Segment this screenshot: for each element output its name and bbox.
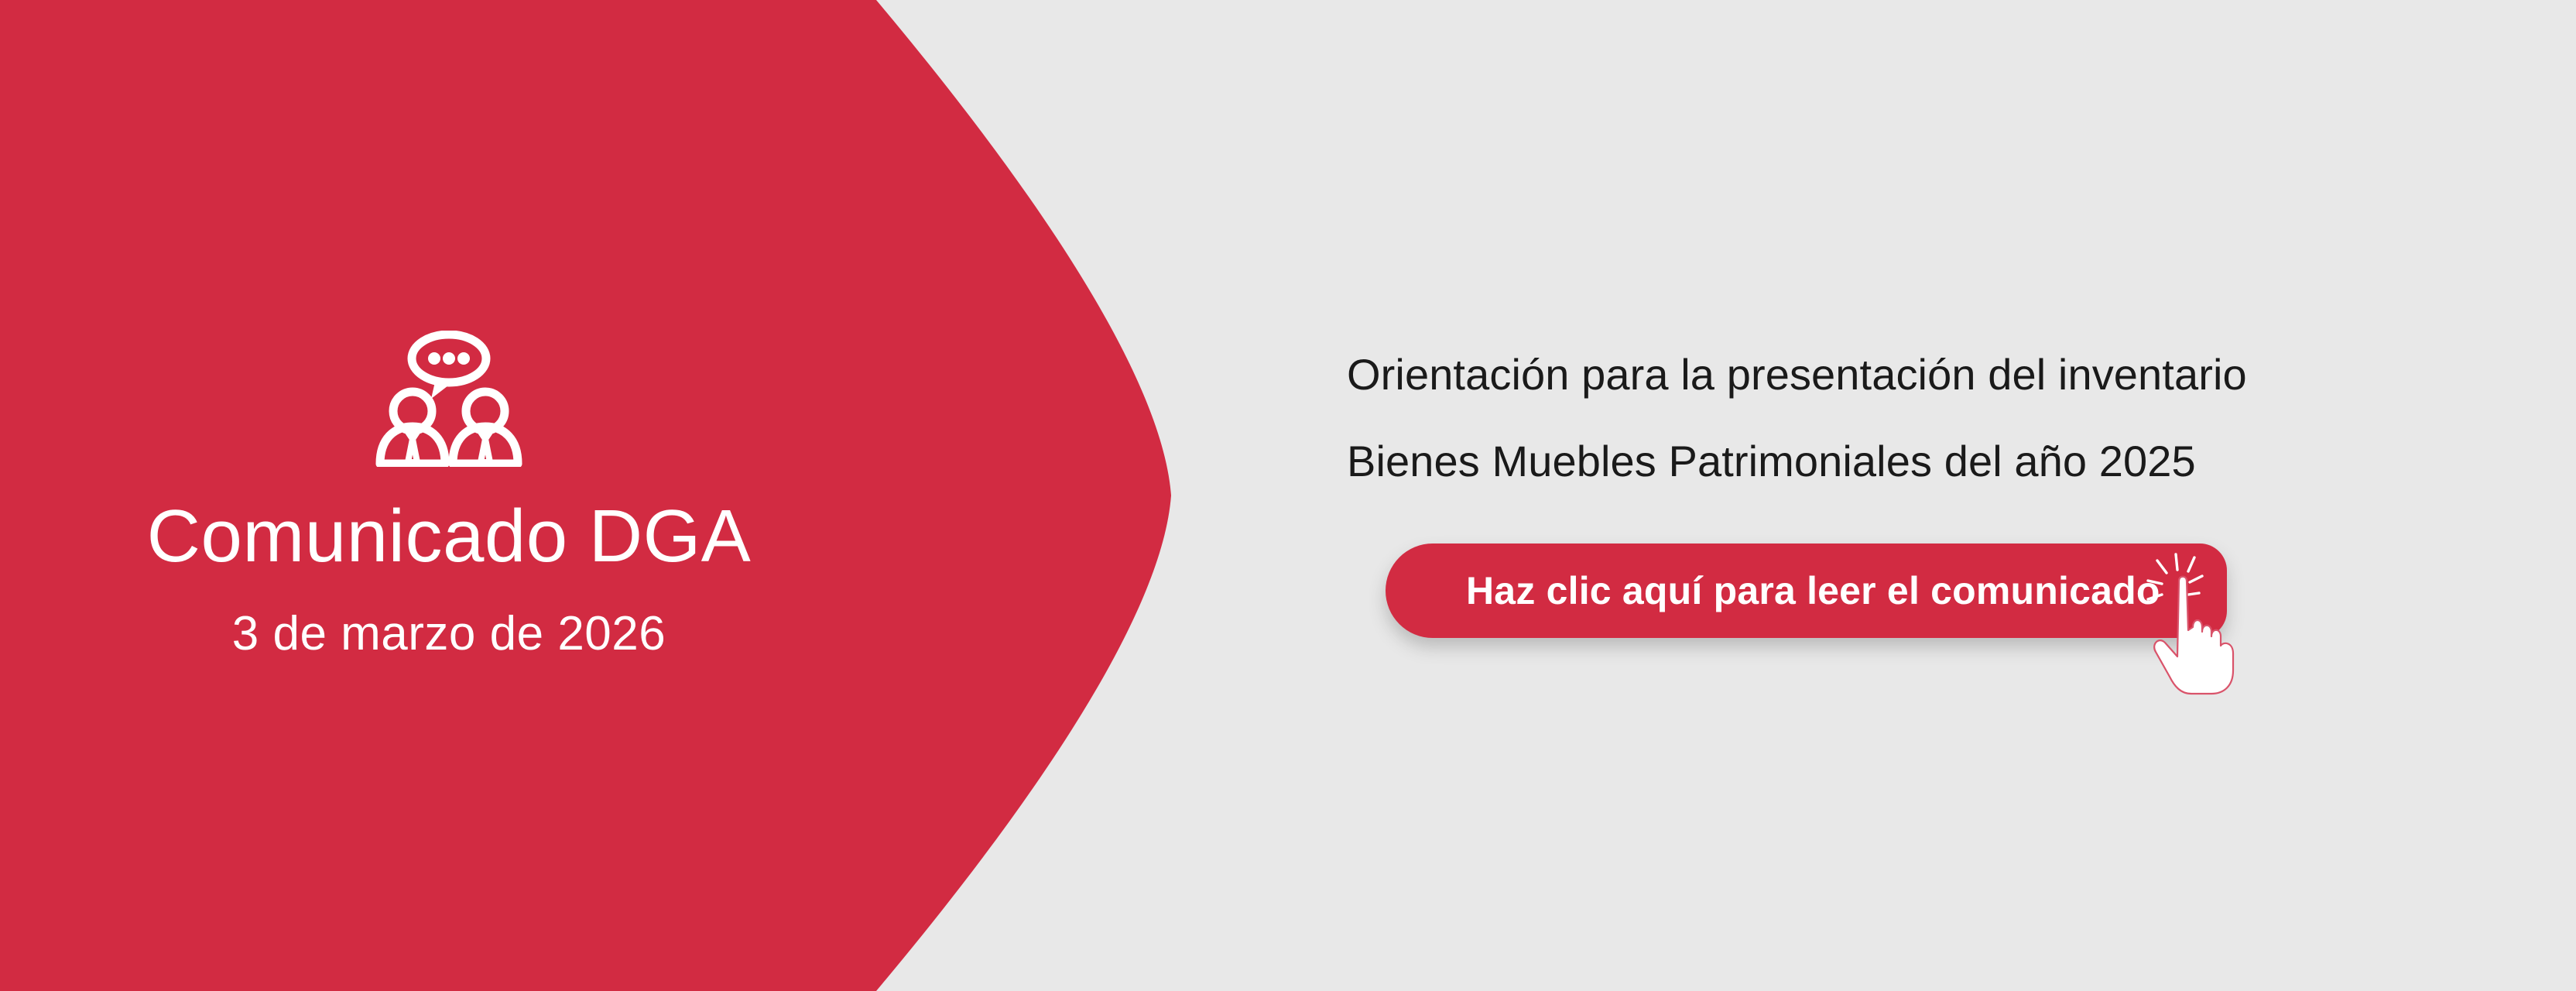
- two-people-speech-bubble-icon: [369, 331, 529, 467]
- cta-wrapper: Haz clic aquí para leer el comunicado: [1386, 544, 2227, 638]
- cta-button-label: Haz clic aquí para leer el comunicado: [1466, 568, 2160, 613]
- read-communique-button[interactable]: Haz clic aquí para leer el comunicado: [1386, 544, 2227, 638]
- promo-headline-line-1: Orientación para la presentación del inv…: [1347, 353, 2247, 396]
- publication-date: 3 de marzo de 2026: [232, 608, 666, 660]
- communique-banner: Comunicado DGA 3 de marzo de 2026 Orient…: [0, 0, 2576, 991]
- left-panel-content: Comunicado DGA 3 de marzo de 2026: [0, 0, 898, 991]
- page-title: Comunicado DGA: [147, 498, 752, 576]
- right-panel-content: Orientación para la presentación del inv…: [1347, 0, 2508, 991]
- promo-headline-line-2: Bienes Muebles Patrimoniales del año 202…: [1347, 440, 2196, 483]
